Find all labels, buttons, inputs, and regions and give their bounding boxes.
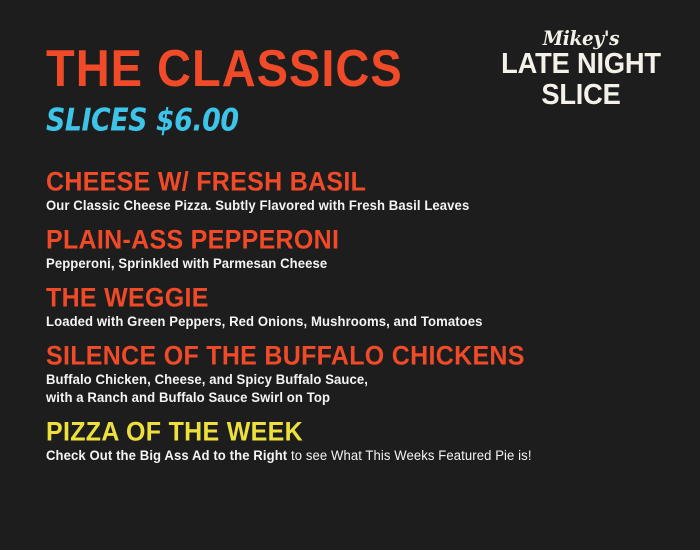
title-block: THE CLASSICS SLICES $6.00 — [46, 42, 516, 131]
menu-item-name: SILENCE OF THE BUFFALO CHICKENS — [46, 342, 666, 370]
brand-logo: Mikey's LATE NIGHT SLICE — [492, 28, 670, 111]
menu-item: THE WEGGIE Loaded with Green Peppers, Re… — [46, 284, 666, 331]
menu-item-description-line: Buffalo Chicken, Cheese, and Spicy Buffa… — [46, 371, 647, 389]
menu-item-name: PLAIN-ASS PEPPERONI — [46, 226, 666, 254]
menu-item: CHEESE W/ FRESH BASIL Our Classic Cheese… — [46, 168, 666, 215]
menu-item: PLAIN-ASS PEPPERONI Pepperoni, Sprinkled… — [46, 226, 666, 273]
price-subtitle: SLICES $6.00 — [46, 89, 497, 136]
menu-item-description-emphasis: Check Out the Big Ass Ad to the Right — [46, 448, 287, 463]
menu-item-description-line: Our Classic Cheese Pizza. Subtly Flavore… — [46, 197, 647, 215]
menu-item-description: Check Out the Big Ass Ad to the Right to… — [46, 447, 647, 465]
menu-item-description-line: Pepperoni, Sprinkled with Parmesan Chees… — [46, 255, 647, 273]
menu-item-description-tail: to see What This Weeks Featured Pie is! — [287, 448, 531, 463]
brand-logo-script: Mikey's — [499, 28, 663, 49]
menu-item-list: CHEESE W/ FRESH BASIL Our Classic Cheese… — [46, 168, 666, 465]
menu-item-name: PIZZA OF THE WEEK — [46, 418, 666, 446]
menu-item-description: Our Classic Cheese Pizza. Subtly Flavore… — [46, 197, 647, 215]
menu-item-description: Buffalo Chicken, Cheese, and Spicy Buffa… — [46, 371, 647, 407]
menu-item-description: Pepperoni, Sprinkled with Parmesan Chees… — [46, 255, 647, 273]
menu-item-description-line: with a Ranch and Buffalo Sauce Swirl on … — [46, 389, 647, 407]
menu-item-description-line: Check Out the Big Ass Ad to the Right to… — [46, 447, 647, 465]
menu-board: THE CLASSICS SLICES $6.00 Mikey's LATE N… — [0, 0, 700, 550]
page-title: THE CLASSICS — [46, 42, 516, 94]
menu-item: PIZZA OF THE WEEK Check Out the Big Ass … — [46, 418, 666, 465]
menu-item: SILENCE OF THE BUFFALO CHICKENS Buffalo … — [46, 342, 666, 407]
brand-logo-line-1: LATE NIGHT — [497, 49, 664, 80]
menu-item-description: Loaded with Green Peppers, Red Onions, M… — [46, 313, 647, 331]
menu-header: THE CLASSICS SLICES $6.00 Mikey's LATE N… — [0, 0, 700, 160]
menu-item-name: THE WEGGIE — [46, 284, 666, 312]
brand-logo-line-2: SLICE — [497, 80, 664, 111]
menu-item-name: CHEESE W/ FRESH BASIL — [46, 168, 666, 196]
menu-item-description-line: Loaded with Green Peppers, Red Onions, M… — [46, 313, 647, 331]
